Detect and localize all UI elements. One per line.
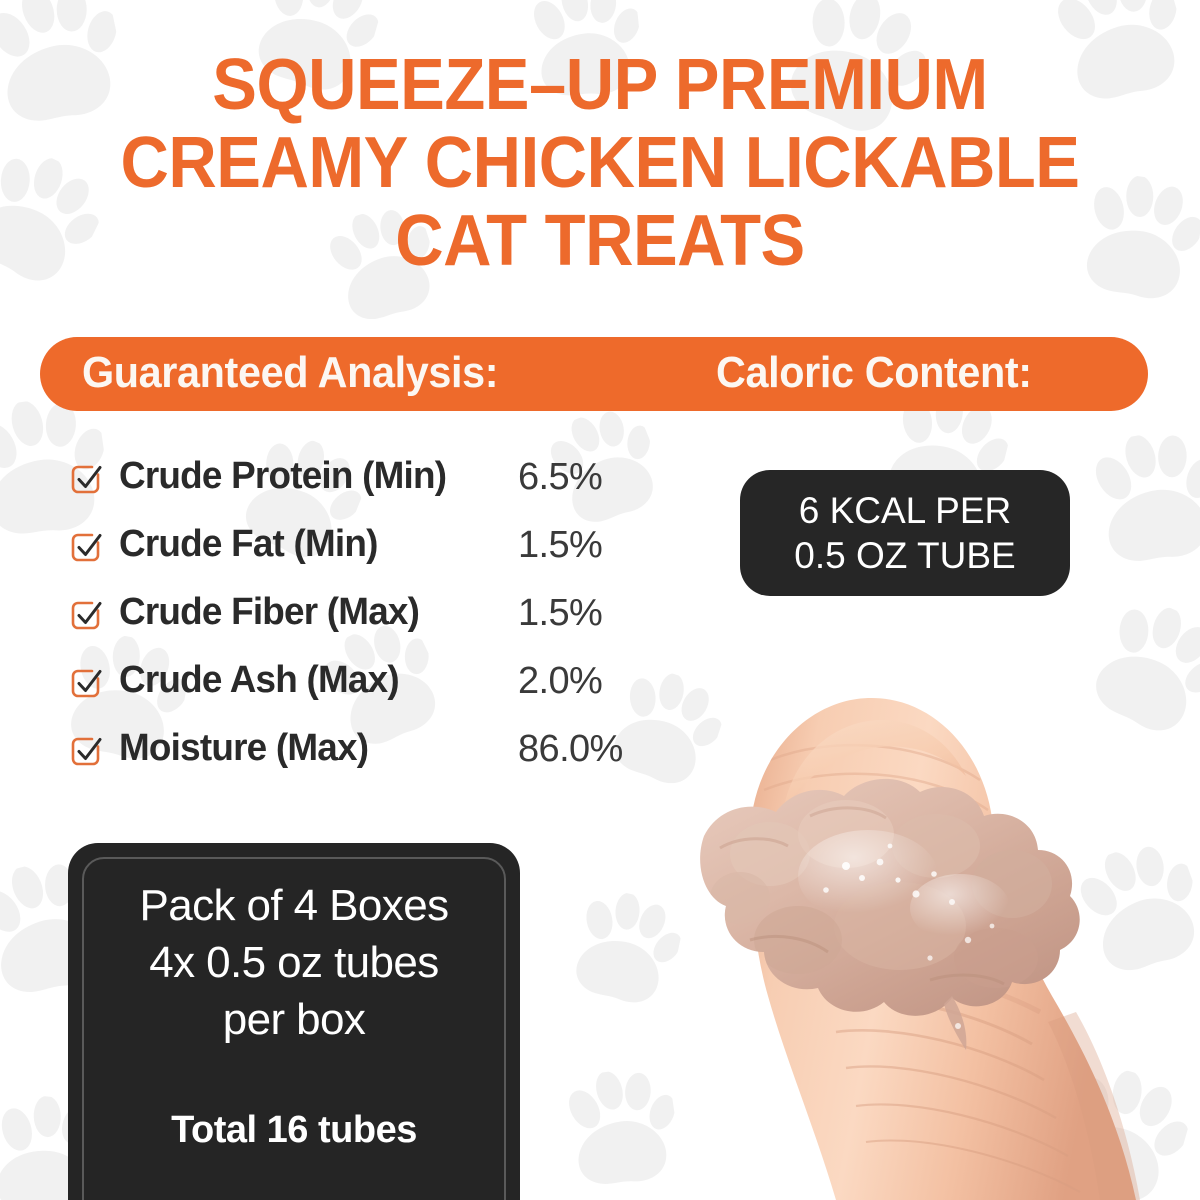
fingertip-with-paste-photo: [600, 640, 1200, 1200]
title-line-1: SQUEEZE–UP PREMIUM: [42, 46, 1158, 124]
section-header-bar: Guaranteed Analysis: Caloric Content:: [40, 337, 1148, 411]
title-line-2: CREAMY CHICKEN LICKABLE: [42, 124, 1158, 202]
kcal-line-2: 0.5 OZ TUBE: [794, 533, 1015, 578]
checkbox-checked-icon: [68, 597, 104, 633]
kcal-line-1: 6 KCAL PER: [799, 488, 1012, 533]
title-line-3: CAT TREATS: [42, 202, 1158, 280]
pack-info-card: Pack of 4 Boxes 4x 0.5 oz tubes per box …: [68, 843, 520, 1200]
checkbox-checked-icon: [68, 529, 104, 565]
checkbox-checked-icon: [68, 733, 104, 769]
pack-total-tubes: Total 16 tubes: [68, 1109, 520, 1152]
analysis-value: 1.5%: [518, 524, 602, 567]
analysis-label: Crude Fiber (Max): [119, 591, 419, 634]
analysis-value: 2.0%: [518, 660, 602, 703]
pack-card-body: Pack of 4 Boxes 4x 0.5 oz tubes per box: [68, 877, 520, 1048]
checkbox-checked-icon: [68, 665, 104, 701]
guaranteed-analysis-heading: Guaranteed Analysis:: [82, 348, 498, 398]
infographic-canvas: SQUEEZE–UP PREMIUM CREAMY CHICKEN LICKAB…: [0, 0, 1200, 1200]
pack-line-1: Pack of 4 Boxes: [68, 877, 520, 934]
checkbox-checked-icon: [68, 461, 104, 497]
product-title: SQUEEZE–UP PREMIUM CREAMY CHICKEN LICKAB…: [42, 46, 1158, 280]
caloric-content-heading: Caloric Content:: [716, 348, 1032, 398]
pack-line-2: 4x 0.5 oz tubes: [68, 934, 520, 991]
analysis-value: 86.0%: [518, 728, 623, 771]
analysis-label: Moisture (Max): [119, 727, 368, 770]
analysis-label: Crude Fat (Min): [119, 523, 378, 566]
paw-print-icon: [1083, 424, 1200, 576]
pack-line-3: per box: [68, 991, 520, 1048]
analysis-value: 6.5%: [518, 456, 602, 499]
analysis-label: Crude Ash (Max): [119, 659, 399, 702]
analysis-value: 1.5%: [518, 592, 602, 635]
caloric-content-badge: 6 KCAL PER 0.5 OZ TUBE: [740, 470, 1070, 596]
analysis-label: Crude Protein (Min): [119, 455, 446, 498]
